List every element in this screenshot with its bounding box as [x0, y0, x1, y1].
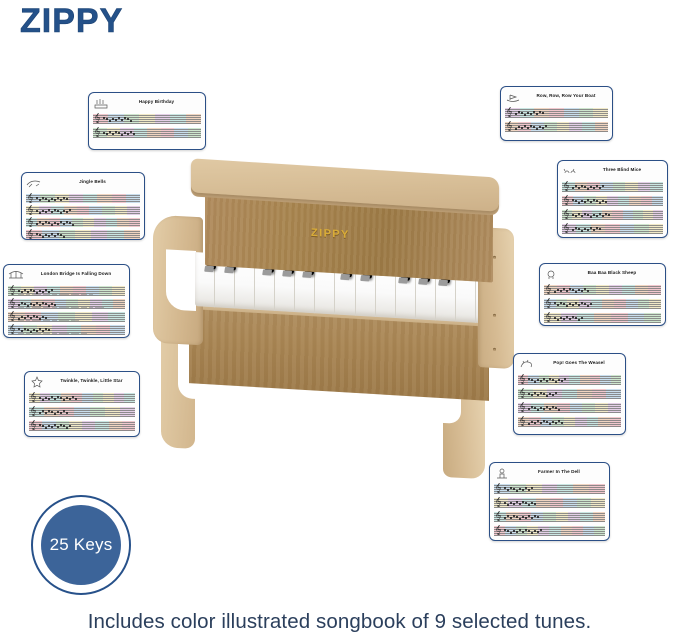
note-heads: [572, 182, 662, 192]
songbook-card-title: Pop! Goes The Weasel: [537, 357, 621, 365]
treble-clef-icon: 𝄞: [495, 511, 502, 521]
songbook-card-title: Happy Birthday: [112, 96, 201, 104]
treble-clef-icon: 𝄞: [545, 312, 552, 322]
songbook-card: Pop! Goes The Weasel𝄞𝄞𝄞𝄞: [513, 353, 626, 435]
note-heads: [36, 230, 139, 239]
music-stave: 𝄞: [562, 195, 663, 207]
treble-clef-icon: 𝄞: [519, 374, 526, 384]
key-count-badge-fill: 25 Keys: [41, 505, 121, 585]
product-image-canvas: ZIPPY: [0, 0, 679, 639]
treble-clef-icon: 𝄞: [27, 193, 34, 203]
treble-clef-icon: 𝄞: [94, 113, 101, 123]
treble-clef-icon: 𝄞: [506, 121, 513, 131]
piano-brand-label: ZIPPY: [311, 227, 350, 241]
note-heads: [504, 512, 604, 522]
note-heads: [528, 403, 620, 413]
songbook-card-title: Baa Baa Black Sheep: [563, 267, 661, 275]
songbook-card: Row, Row, Row Your Boat𝄞𝄞: [500, 86, 613, 141]
songbook-card-header: Pop! Goes The Weasel: [518, 357, 621, 373]
songbook-card-header: Farmer In The Dell: [494, 466, 605, 482]
note-heads: [528, 417, 620, 427]
note-heads: [36, 206, 139, 215]
note-heads: [18, 325, 124, 335]
songbook-card: Twinkle, Twinkle, Little Star𝄞𝄞𝄞: [24, 371, 140, 437]
treble-clef-icon: 𝄞: [9, 324, 16, 334]
music-notation: 𝄞𝄞𝄞𝄞: [494, 483, 605, 537]
music-stave: 𝄞: [8, 311, 125, 322]
note-heads: [572, 210, 662, 220]
songbook-card-header: Three Blind Mice: [562, 164, 663, 180]
songbook-card-header: Happy Birthday: [93, 96, 201, 112]
note-heads: [554, 285, 660, 295]
note-heads: [103, 114, 200, 124]
treble-clef-icon: 𝄞: [495, 483, 502, 493]
music-stave: 𝄞: [29, 406, 135, 418]
songbook-card: Three Blind Mice𝄞𝄞𝄞𝄞: [557, 160, 668, 238]
music-stave: 𝄞: [93, 113, 201, 125]
songbook-card: Farmer In The Dell𝄞𝄞𝄞𝄞: [489, 462, 610, 541]
key-count-badge-label: 25 Keys: [50, 535, 113, 555]
songbook-card-header: Row, Row, Row Your Boat: [505, 90, 608, 106]
music-stave: 𝄞: [518, 388, 621, 400]
music-stave: 𝄞: [518, 416, 621, 428]
treble-clef-icon: 𝄞: [563, 195, 570, 205]
treble-clef-icon: 𝄞: [9, 311, 16, 321]
note-heads: [36, 218, 139, 227]
treble-clef-icon: 𝄞: [506, 107, 513, 117]
treble-clef-icon: 𝄞: [495, 525, 502, 535]
music-notation: 𝄞𝄞: [505, 107, 608, 133]
music-stave: 𝄞: [562, 223, 663, 235]
music-stave: 𝄞: [26, 229, 140, 239]
treble-clef-icon: 𝄞: [9, 285, 16, 295]
songbook-card-title: Twinkle, Twinkle, Little Star: [48, 375, 135, 383]
toy-piano-illustration: ZIPPY: [143, 168, 509, 488]
music-stave: 𝄞: [494, 483, 605, 495]
songbook-card: Jingle Bells𝄞𝄞𝄞𝄞: [21, 172, 145, 240]
brand-logo: ZIPPY: [20, 4, 123, 38]
songbook-card: London Bridge Is Falling Down𝄞𝄞𝄞𝄞: [3, 264, 130, 338]
screw-icon: [493, 314, 496, 317]
songbook-card-header: Baa Baa Black Sheep: [544, 267, 661, 283]
treble-clef-icon: 𝄞: [519, 416, 526, 426]
note-heads: [572, 196, 662, 206]
note-heads: [103, 128, 200, 138]
treble-clef-icon: 𝄞: [563, 181, 570, 191]
music-notation: 𝄞𝄞𝄞𝄞: [562, 181, 663, 235]
treble-clef-icon: 𝄞: [563, 209, 570, 219]
music-stave: 𝄞: [494, 511, 605, 523]
music-stave: 𝄞: [26, 217, 140, 227]
music-stave: 𝄞: [505, 121, 608, 133]
treble-clef-icon: 𝄞: [30, 420, 37, 430]
note-heads: [39, 393, 134, 403]
treble-clef-icon: 𝄞: [27, 205, 34, 215]
treble-clef-icon: 𝄞: [30, 406, 37, 416]
music-stave: 𝄞: [494, 525, 605, 537]
screw-icon: [493, 256, 496, 259]
music-notation: 𝄞𝄞𝄞𝄞: [26, 193, 140, 239]
music-stave: 𝄞: [8, 324, 125, 335]
music-stave: 𝄞: [518, 374, 621, 386]
music-notation: 𝄞𝄞𝄞𝄞: [518, 374, 621, 428]
note-heads: [554, 299, 660, 309]
songbook-card-title: Three Blind Mice: [581, 164, 663, 172]
screw-icon: [493, 348, 496, 351]
music-notation: 𝄞𝄞: [93, 113, 201, 139]
music-stave: 𝄞: [29, 420, 135, 432]
music-stave: 𝄞: [26, 205, 140, 215]
note-heads: [528, 389, 620, 399]
music-stave: 𝄞: [8, 298, 125, 309]
note-heads: [572, 224, 662, 234]
music-notation: 𝄞𝄞𝄞𝄞: [8, 285, 125, 335]
songbook-card-title: Farmer In The Dell: [513, 466, 605, 474]
music-stave: 𝄞: [544, 312, 661, 324]
songbook-card: Happy Birthday𝄞𝄞: [88, 92, 206, 150]
note-heads: [515, 108, 607, 118]
treble-clef-icon: 𝄞: [545, 284, 552, 294]
songbook-card-title: London Bridge Is Falling Down: [27, 268, 125, 276]
music-stave: 𝄞: [544, 284, 661, 296]
treble-clef-icon: 𝄞: [495, 497, 502, 507]
music-stave: 𝄞: [26, 193, 140, 203]
songbook-card-header: Jingle Bells: [26, 176, 140, 192]
music-stave: 𝄞: [562, 181, 663, 193]
note-heads: [36, 194, 139, 203]
treble-clef-icon: 𝄞: [9, 298, 16, 308]
music-notation: 𝄞𝄞𝄞: [29, 392, 135, 432]
songbook-card-header: Twinkle, Twinkle, Little Star: [29, 375, 135, 391]
music-stave: 𝄞: [8, 285, 125, 296]
key-count-badge: 25 Keys: [31, 495, 131, 595]
songbook-card-title: Jingle Bells: [45, 176, 140, 184]
note-heads: [515, 122, 607, 132]
note-heads: [18, 312, 124, 322]
treble-clef-icon: 𝄞: [94, 127, 101, 137]
treble-clef-icon: 𝄞: [27, 229, 34, 239]
note-heads: [528, 375, 620, 385]
music-stave: 𝄞: [29, 392, 135, 404]
note-heads: [504, 484, 604, 494]
music-stave: 𝄞: [505, 107, 608, 119]
music-notation: 𝄞𝄞𝄞: [544, 284, 661, 324]
treble-clef-icon: 𝄞: [27, 217, 34, 227]
songbook-card-header: London Bridge Is Falling Down: [8, 268, 125, 284]
treble-clef-icon: 𝄞: [30, 392, 37, 402]
treble-clef-icon: 𝄞: [545, 298, 552, 308]
feature-caption: Includes color illustrated songbook of 9…: [0, 610, 679, 634]
note-heads: [504, 498, 604, 508]
treble-clef-icon: 𝄞: [519, 402, 526, 412]
songbook-card: Baa Baa Black Sheep𝄞𝄞𝄞: [539, 263, 666, 326]
note-heads: [18, 299, 124, 309]
note-heads: [39, 407, 134, 417]
songbook-card-title: Row, Row, Row Your Boat: [524, 90, 608, 98]
note-heads: [39, 421, 134, 431]
music-stave: 𝄞: [93, 127, 201, 139]
note-heads: [504, 526, 604, 536]
treble-clef-icon: 𝄞: [519, 388, 526, 398]
music-stave: 𝄞: [544, 298, 661, 310]
treble-clef-icon: 𝄞: [563, 223, 570, 233]
music-stave: 𝄞: [494, 497, 605, 509]
note-heads: [554, 313, 660, 323]
music-stave: 𝄞: [562, 209, 663, 221]
note-heads: [18, 286, 124, 296]
music-stave: 𝄞: [518, 402, 621, 414]
